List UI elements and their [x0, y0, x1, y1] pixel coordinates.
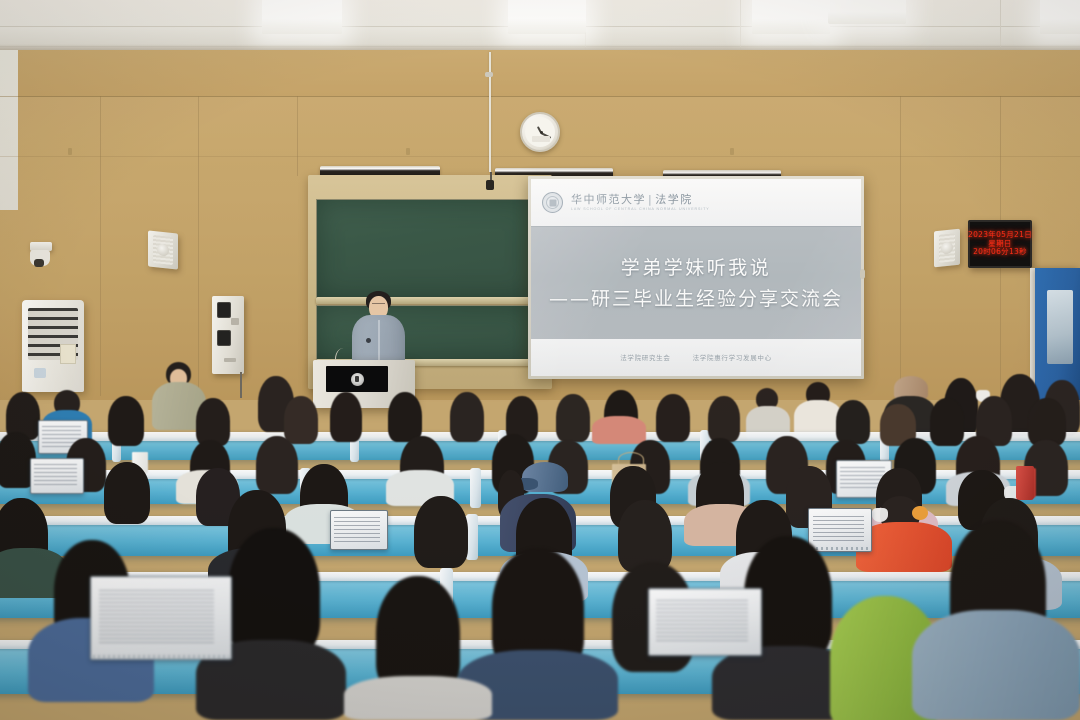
control-panel-label — [224, 358, 236, 362]
ceiling-light-panel — [828, 0, 906, 24]
ceiling-light-panel — [1040, 0, 1080, 34]
laptop-document-text — [99, 590, 214, 644]
person-hair — [284, 396, 318, 444]
screen-side-knob — [860, 269, 865, 279]
university-emblem-icon — [351, 373, 364, 386]
slide-logo-unit: 法学院 — [655, 193, 693, 206]
person-hair — [618, 500, 672, 572]
slide-title-line1: 学弟学妹听我说 — [621, 253, 772, 280]
wall-speaker — [148, 230, 178, 269]
ceiling-light-panel — [262, 0, 342, 34]
presenter-glasses-icon — [372, 303, 385, 307]
laptop-taskbar — [811, 547, 869, 550]
wall-clock — [520, 112, 560, 152]
slide-footer-left: 法学院研究生会 — [620, 352, 670, 362]
wall-left-column — [0, 50, 18, 210]
person-hair — [836, 400, 870, 444]
lecture-hall-photo: 2023年05月21日 星期日 20时06分13秒 华中师范大学|法学院 LAW… — [0, 0, 1080, 720]
person-hair — [256, 436, 298, 494]
slide-header: 华中师范大学|法学院 LAW SCHOOL OF CENTRAL CHINA N… — [531, 179, 861, 226]
laptop-screen — [30, 458, 84, 494]
person-hair — [1028, 398, 1066, 446]
ac-label — [60, 344, 76, 364]
ceiling-light-panel — [752, 0, 830, 34]
laptop-document-text — [334, 517, 380, 542]
slide-footer-right: 法学院惠行学习发展中心 — [693, 352, 772, 362]
slide-logo-divider: | — [646, 193, 655, 206]
hair-scrunchie — [912, 506, 928, 520]
ceiling-light-panel — [508, 0, 586, 34]
slide-logo-en: LAW SCHOOL OF CENTRAL CHINA NORMAL UNIVE… — [571, 208, 710, 212]
person-hair — [930, 398, 964, 446]
wall-seam — [100, 96, 101, 396]
clock-center-pin — [540, 131, 543, 134]
wall-seam — [198, 96, 199, 396]
control-panel-switch[interactable] — [217, 330, 231, 346]
wall-fixture-nub — [730, 148, 734, 155]
blackboard-chalk-rail — [316, 297, 532, 304]
water-bottle — [1016, 466, 1034, 500]
wall-fixture-nub — [406, 148, 410, 155]
camera-lens-icon — [34, 259, 44, 267]
laptop-screen — [808, 508, 872, 552]
laptop-document-text — [813, 516, 864, 544]
ac-display-panel — [34, 368, 46, 378]
slide-footer: 法学院研究生会 法学院惠行学习发展中心 — [531, 339, 861, 376]
wall-seam — [0, 96, 1080, 97]
av-control-panel[interactable] — [212, 296, 244, 374]
control-panel-indicator — [231, 318, 239, 325]
person-top — [592, 416, 646, 444]
wall-seam — [0, 156, 1080, 157]
person-hair — [708, 396, 740, 442]
slide-title-line2: ——研三毕业生经验分享交流会 — [549, 284, 843, 311]
wall-fixture-nub — [68, 148, 72, 155]
screen-cord-clip — [485, 72, 493, 77]
slide-logo-text: 华中师范大学|法学院 LAW SCHOOL OF CENTRAL CHINA N… — [571, 194, 710, 211]
person-hair — [388, 392, 422, 442]
control-panel-cable — [240, 372, 242, 398]
wall-speaker — [934, 229, 960, 268]
clock-face — [525, 117, 555, 147]
laptop-taskbar — [93, 655, 229, 658]
face-mask — [872, 508, 888, 522]
lectern-display — [326, 366, 388, 392]
door-window — [1047, 290, 1073, 364]
person-hair — [108, 396, 144, 446]
projection-screen: 华中师范大学|法学院 LAW SCHOOL OF CENTRAL CHINA N… — [528, 176, 864, 379]
university-seal-icon — [542, 192, 563, 213]
desk-divider — [470, 468, 481, 508]
screen-hanging-cord — [489, 52, 491, 172]
person-hair — [450, 392, 484, 442]
person-hair — [104, 462, 150, 524]
person-hair — [228, 528, 320, 656]
person-hair — [556, 394, 590, 442]
laptop-screen — [330, 510, 388, 550]
led-line-time: 20时06分13秒 — [973, 248, 1027, 256]
laptop-document-text — [656, 600, 748, 644]
slide-logo-cn: 华中师范大学|法学院 — [571, 194, 710, 206]
wall-upper-band — [0, 50, 1080, 97]
speaker-cone-icon — [157, 243, 169, 256]
person-hair — [196, 398, 230, 446]
laptop-screen — [648, 588, 762, 656]
person-denim-jacket — [912, 610, 1080, 720]
person-hair — [414, 496, 468, 568]
laptop-screen — [90, 576, 232, 660]
wall-seam — [297, 96, 298, 176]
presentation-slide: 华中师范大学|法学院 LAW SCHOOL OF CENTRAL CHINA N… — [531, 179, 861, 376]
clock-subdial — [532, 136, 550, 142]
slide-title-block: 学弟学妹听我说 ——研三毕业生经验分享交流会 — [531, 226, 861, 338]
blackboard-panel-upper — [316, 199, 534, 299]
presenter-badge — [366, 338, 371, 343]
slide-logo-university: 华中师范大学 — [571, 193, 646, 206]
wall-seam — [900, 96, 901, 396]
person-hair — [656, 394, 690, 442]
air-conditioner — [22, 300, 84, 392]
person-hair — [330, 392, 362, 442]
person-top — [344, 676, 492, 720]
control-panel-switch[interactable] — [217, 302, 231, 318]
laptop-document-text — [34, 464, 77, 486]
led-date-time-sign: 2023年05月21日 星期日 20时06分13秒 — [968, 220, 1032, 268]
board-mic — [486, 180, 494, 190]
